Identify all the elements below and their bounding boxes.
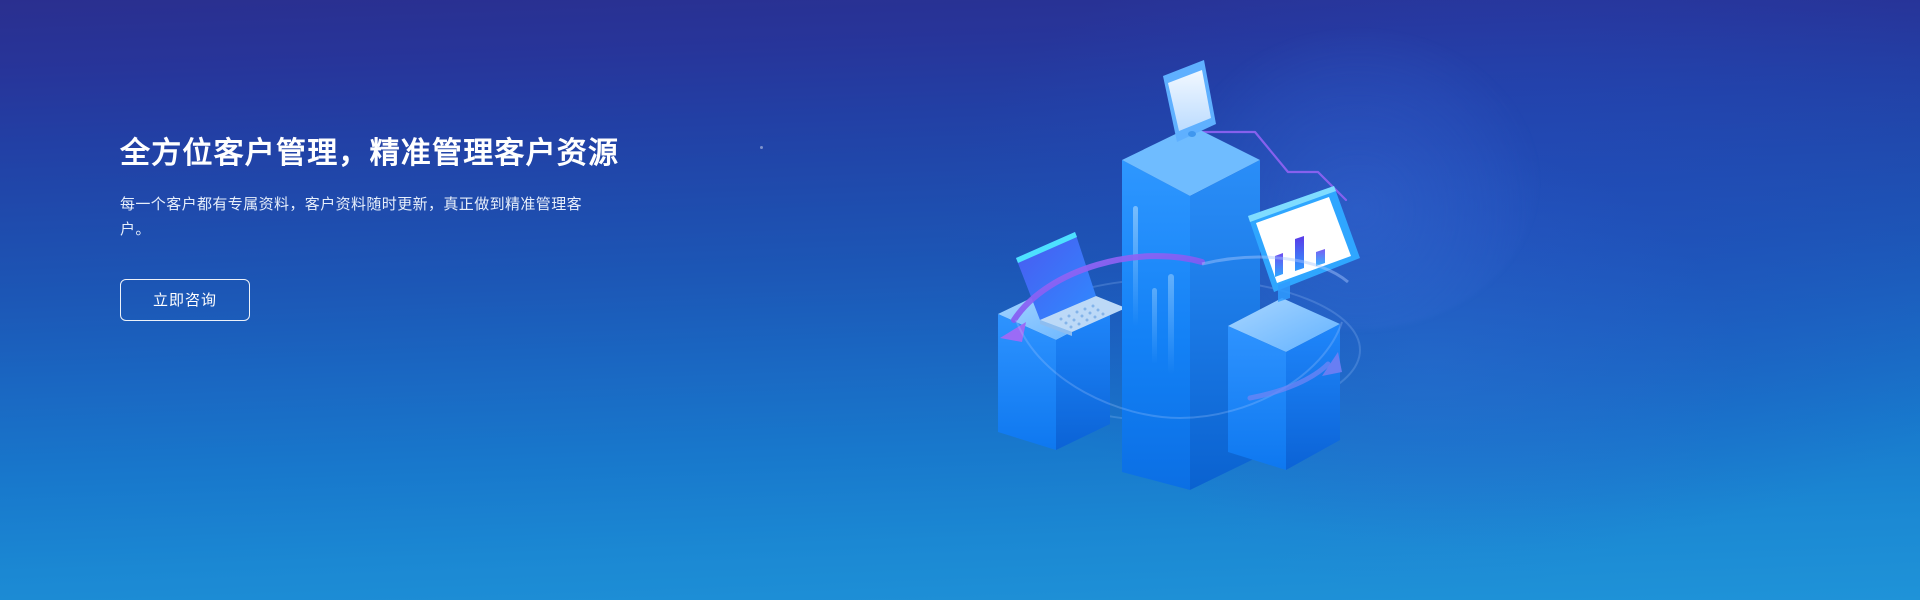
pedestal-right <box>1228 298 1340 470</box>
isometric-illustration-svg <box>930 20 1430 580</box>
hero-banner: 全方位客户管理，精准管理客户资源 每一个客户都有专属资料，客户资料随时更新，真正… <box>0 0 1920 600</box>
tablet-icon <box>1163 60 1216 142</box>
hero-subtitle: 每一个客户都有专属资料，客户资料随时更新，真正做到精准管理客户。 <box>120 193 600 243</box>
monitor-bar-chart-icon <box>1248 186 1360 302</box>
consult-now-button[interactable]: 立即咨询 <box>120 279 250 321</box>
background-speck <box>760 146 763 149</box>
page-title: 全方位客户管理，精准管理客户资源 <box>120 134 740 173</box>
hero-copy: 全方位客户管理，精准管理客户资源 每一个客户都有专属资料，客户资料随时更新，真正… <box>120 134 740 321</box>
hero-illustration <box>930 20 1430 580</box>
